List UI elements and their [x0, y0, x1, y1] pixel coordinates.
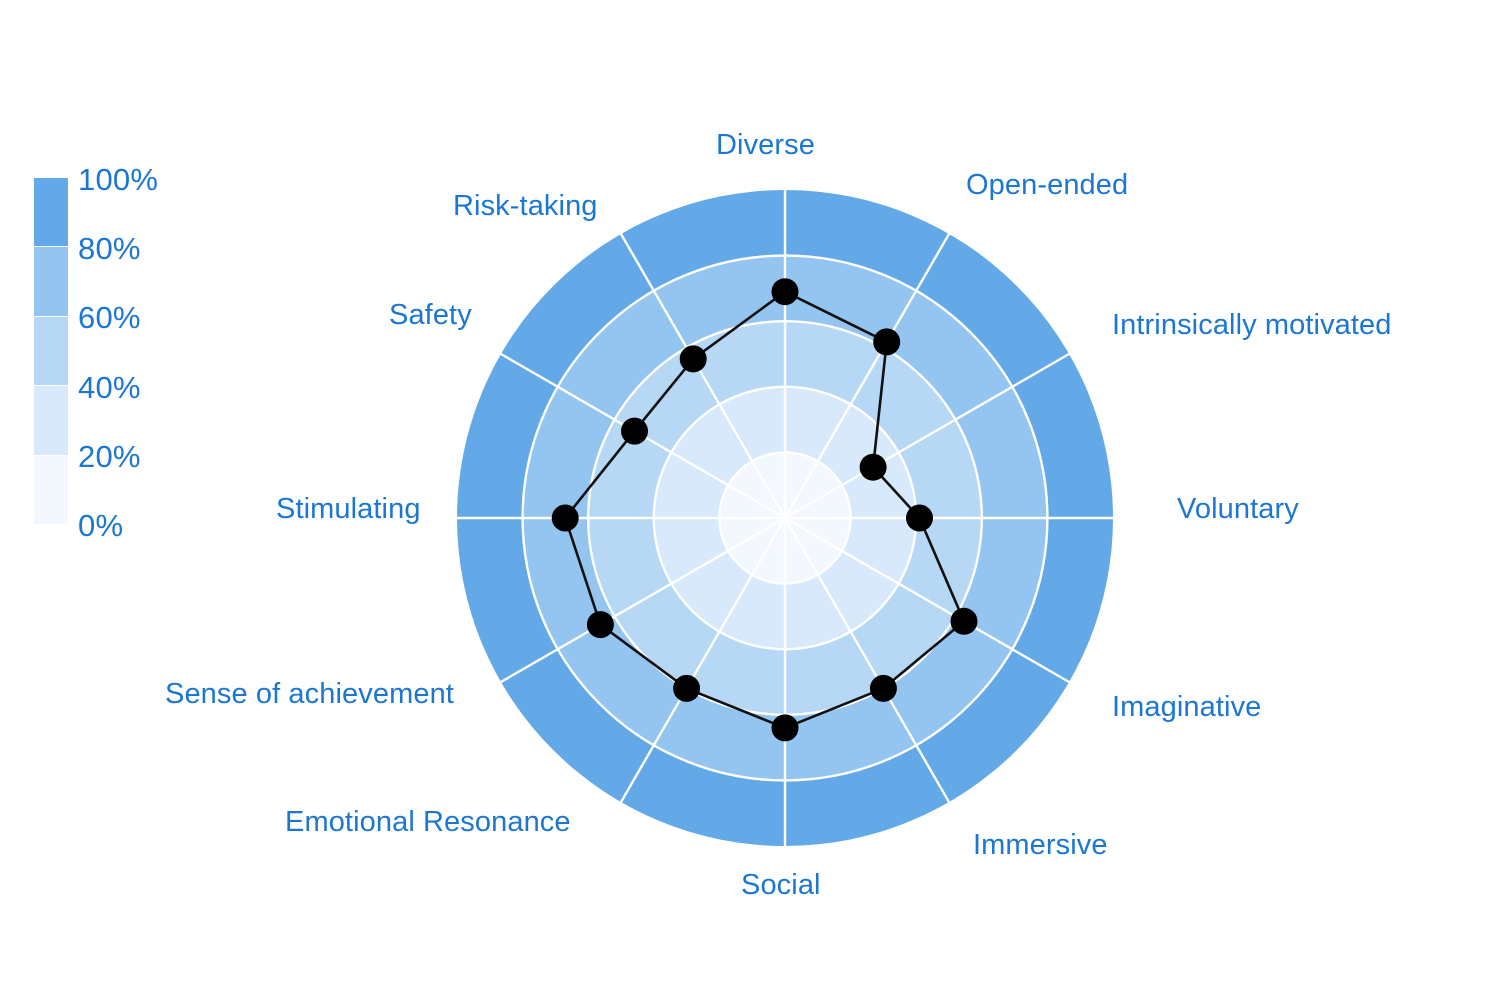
- legend-swatch-4: [34, 456, 68, 524]
- axis-label-safety: Safety: [389, 301, 472, 330]
- data-point-stimulating: [552, 505, 579, 532]
- axis-label-emotional-resonance: Emotional Resonance: [285, 808, 571, 837]
- data-point-intrinsically-motivated: [860, 454, 887, 481]
- data-point-risk-taking: [680, 345, 707, 372]
- axis-label-sense-of-achievement: Sense of achievement: [165, 680, 454, 709]
- data-point-sense-of-achievement: [587, 611, 614, 638]
- axis-label-voluntary: Voluntary: [1177, 495, 1299, 524]
- legend-swatch-1: [34, 247, 68, 316]
- axis-label-open-ended: Open-ended: [966, 171, 1128, 200]
- legend-tick-80pct: 80%: [78, 233, 141, 264]
- legend-tick-100pct: 100%: [78, 164, 158, 195]
- axis-label-immersive: Immersive: [973, 831, 1108, 860]
- axis-label-risk-taking: Risk-taking: [453, 192, 598, 221]
- data-point-voluntary: [906, 505, 933, 532]
- axis-label-intrinsically-motivated: Intrinsically motivated: [1112, 311, 1392, 340]
- legend-tick-0pct: 0%: [78, 510, 123, 541]
- legend: 100%80%60%40%20%0%: [34, 178, 234, 538]
- legend-tick-20pct: 20%: [78, 441, 141, 472]
- data-point-open-ended: [873, 328, 900, 355]
- axis-label-diverse: Diverse: [716, 131, 815, 160]
- legend-swatch-3: [34, 386, 68, 455]
- data-point-diverse: [772, 278, 799, 305]
- legend-colorbar: [34, 178, 68, 524]
- data-point-emotional-resonance: [673, 675, 700, 702]
- axis-label-social: Social: [741, 871, 821, 900]
- data-point-immersive: [870, 675, 897, 702]
- legend-tick-40pct: 40%: [78, 372, 141, 403]
- data-point-imaginative: [951, 608, 978, 635]
- legend-tick-60pct: 60%: [78, 302, 141, 333]
- axis-label-stimulating: Stimulating: [276, 495, 421, 524]
- legend-swatch-0: [34, 178, 68, 247]
- legend-tick-labels: 100%80%60%40%20%0%: [78, 156, 228, 546]
- data-point-safety: [621, 418, 648, 445]
- legend-swatch-2: [34, 317, 68, 386]
- radar-chart-figure: 100%80%60%40%20%0% DiverseOpen-endedIntr…: [0, 0, 1500, 1000]
- axis-label-imaginative: Imaginative: [1112, 693, 1261, 722]
- data-point-social: [772, 714, 799, 741]
